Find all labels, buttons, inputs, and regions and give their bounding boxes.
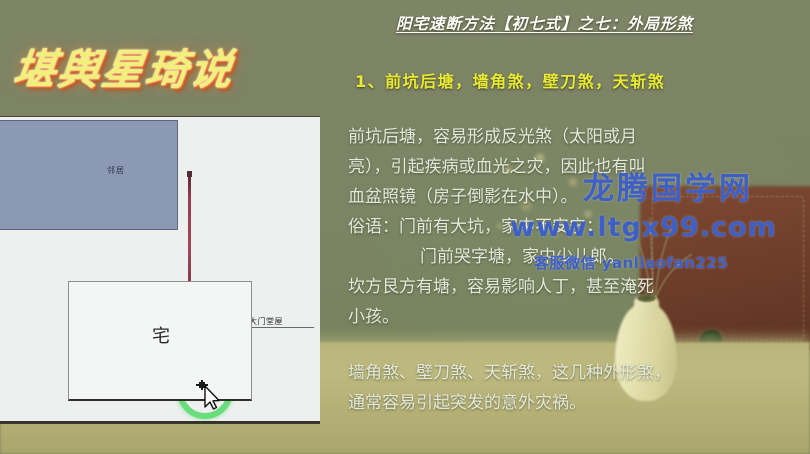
body-text-block: 前坑后塘，容易形成反光煞（太阳或月 亮），引起疾病或血光之灾，因此也有叫 血盆照… [348,122,800,418]
house-block-label: 宅 [69,322,253,348]
move-cursor [196,380,222,410]
channel-logo: 堪舆星琦说 [10,36,238,97]
body-line: 坎方艮方有塘，容易影响人丁，甚至淹死 [348,272,800,302]
body-line: 通常容易引起突发的意外灾祸。 [348,388,800,418]
body-line: 血盆照镜（房子倒影在水中）。 [348,182,800,212]
panel-bottom-border [0,421,320,423]
neighbor-block-label: 邻居 [107,165,125,176]
paragraph-spacer [348,332,800,358]
diagram-panel: 邻居 壁刀劈过 大门堂屋 宅 [0,116,320,423]
page-title: 阳宅速断方法【初七式】之七：外局形煞 [396,12,693,34]
body-line: 俗语：门前有大坑，家中不安宁； [348,212,800,242]
panel-top-border [0,116,320,117]
body-line: 亮），引起疾病或血光之灾，因此也有叫 [348,152,800,182]
neighbor-building-block: 邻居 [0,120,178,230]
body-line: 小孩。 [348,302,800,332]
house-block: 宅 [68,281,252,401]
body-line: 前坑后塘，容易形成反光煞（太阳或月 [348,122,800,152]
section-heading: 1、前坑后塘，墙角煞，壁刀煞，天斩煞 [355,68,665,92]
body-line: 墙角煞、壁刀煞、天斩煞，这几种外形煞， [348,358,800,388]
body-line: 门前哭字塘，家中少儿郎。 [348,242,800,272]
wall-blade-line [188,173,191,298]
slide-canvas: 堪舆星琦说 邻居 壁刀劈过 大门堂屋 宅 阳宅速断方法【初七式】之七：外局形煞 … [0,0,810,454]
